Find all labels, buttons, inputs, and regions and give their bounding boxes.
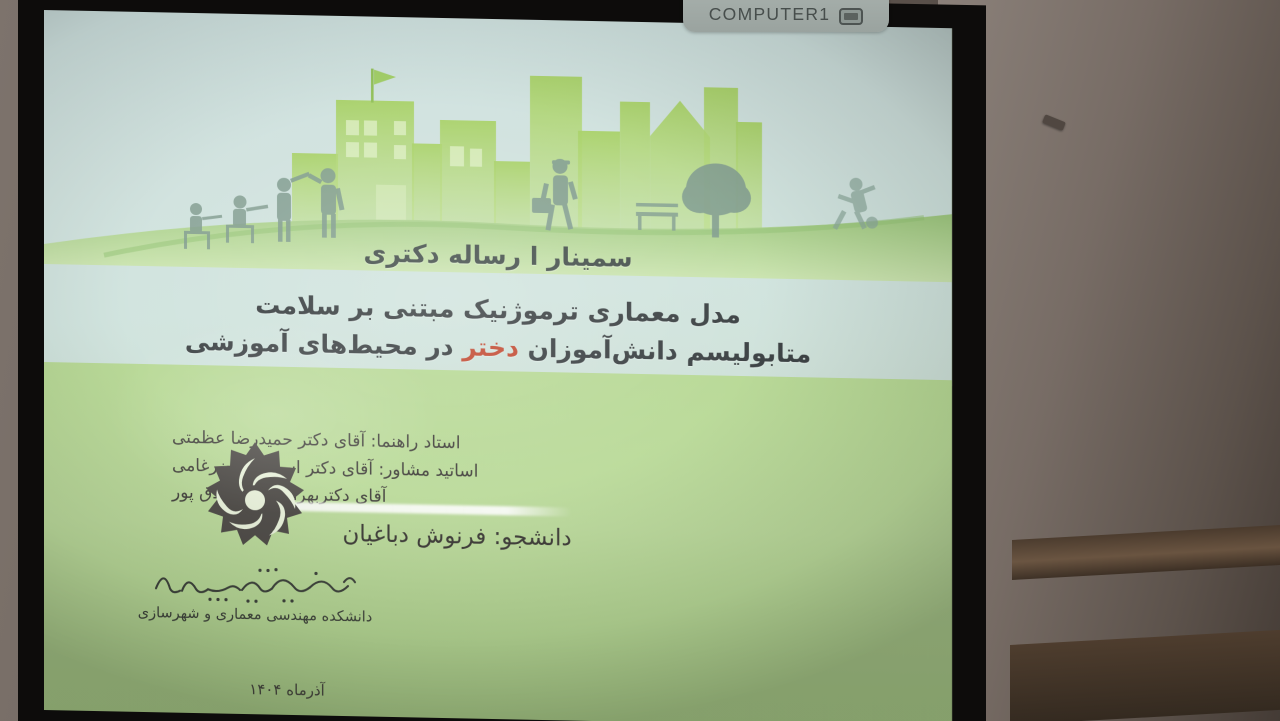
title-highlight-word: دختر	[462, 332, 519, 362]
university-name-calligraphy	[148, 558, 363, 608]
title-line-2-before: متابولیسم دانش‌آموزان	[519, 333, 811, 368]
title-line-2-after: در محیط‌های آموزشی	[185, 326, 462, 361]
presentation-slide: سمینار ا رساله دکتری مدل معماری ترموژنیک…	[44, 10, 952, 721]
display-input-icon	[839, 8, 863, 25]
shahid-rajaee-rosette-logo	[195, 437, 315, 557]
projector-osd-badge: COMPUTER1	[683, 0, 889, 32]
wall-base-band	[1010, 630, 1280, 721]
title-line-1: مدل معماری ترموژنیک مبتنی بر سلامت	[255, 290, 741, 329]
photo-of-projected-slide: سمینار ا رساله دکتری مدل معماری ترموژنیک…	[0, 0, 1280, 721]
university-logo-block: دانشکده مهندسی معماری و شهرسازی	[130, 436, 380, 626]
room-wall-right	[938, 0, 1280, 721]
osd-input-label: COMPUTER1	[709, 4, 831, 25]
